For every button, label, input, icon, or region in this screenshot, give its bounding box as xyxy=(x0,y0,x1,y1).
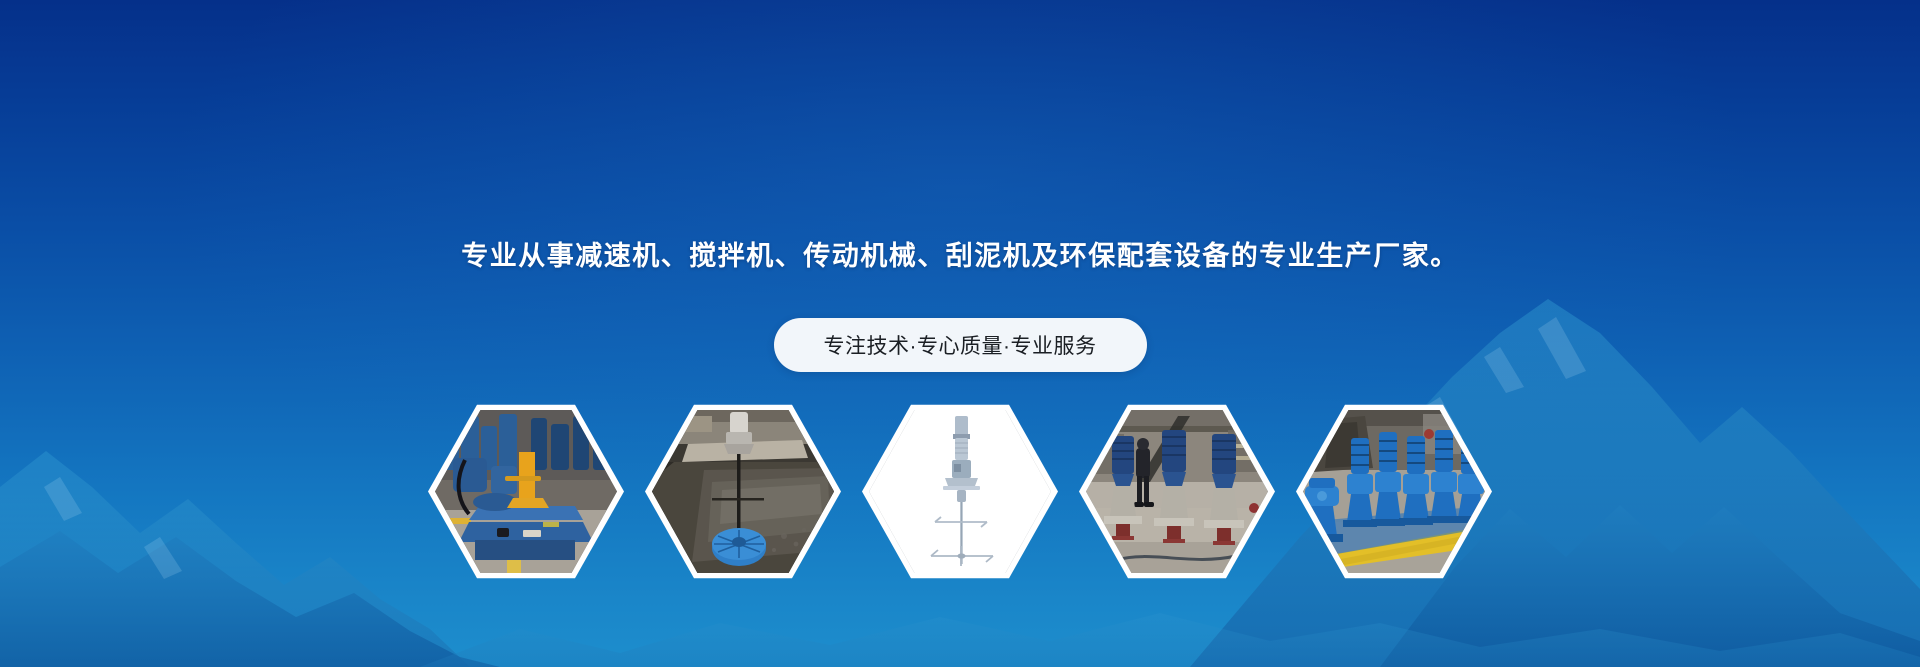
hexagon-photo-4[interactable] xyxy=(1079,403,1275,580)
hero-banner: 专业从事减速机、搅拌机、传动机械、刮泥机及环保配套设备的专业生产厂家。 专注技术… xyxy=(0,0,1920,667)
hexagon-photo-1[interactable] xyxy=(428,403,624,580)
tagline-pill[interactable]: 专注技术·专心质量·专业服务 xyxy=(774,318,1147,372)
hexagon-photo-5[interactable] xyxy=(1296,403,1492,580)
tagline-pill-container: 专注技术·专心质量·专业服务 xyxy=(0,318,1920,372)
hexagon-photo-2[interactable] xyxy=(645,403,841,580)
banner-headline: 专业从事减速机、搅拌机、传动机械、刮泥机及环保配套设备的专业生产厂家。 xyxy=(0,239,1920,273)
hexagon-photo-3[interactable] xyxy=(862,403,1058,580)
hexagon-gallery xyxy=(0,403,1920,580)
